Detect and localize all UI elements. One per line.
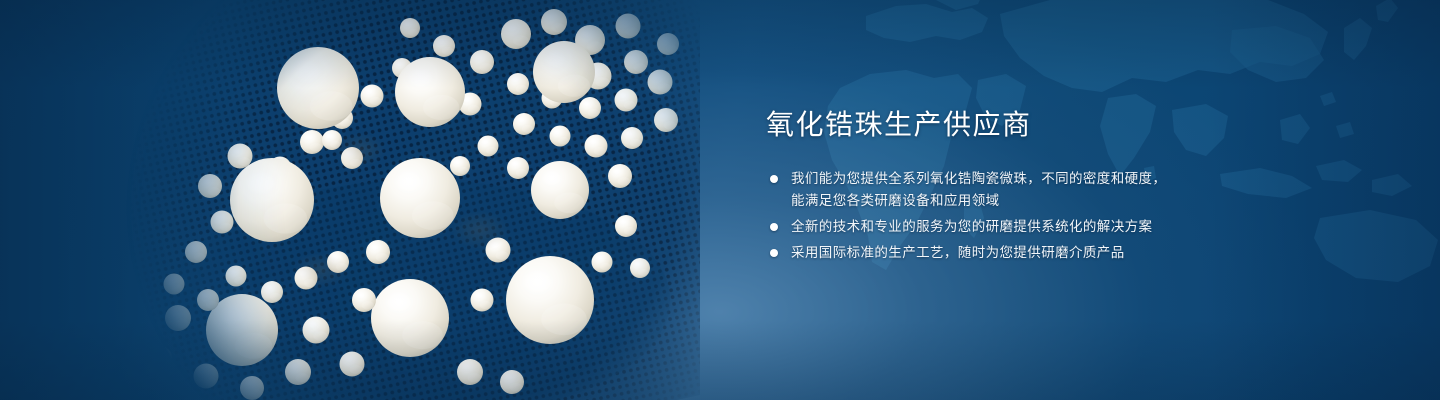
feature-list: 我们能为您提供全系列氧化锆陶瓷微珠，不同的密度和硬度， 能满足您各类研磨设备和应… [766,168,1366,264]
banner-copy: 氧化锆珠生产供应商 我们能为您提供全系列氧化锆陶瓷微珠，不同的密度和硬度， 能满… [766,108,1366,264]
beads-illustration [120,0,700,400]
bullet-dot-icon [770,175,778,183]
list-item-line-1: 我们能为您提供全系列氧化锆陶瓷微珠，不同的密度和硬度， [791,168,1366,190]
list-item-line-1: 采用国际标准的生产工艺，随时为您提供研磨介质产品 [791,242,1366,264]
list-item-line-1: 全新的技术和专业的服务为您的研磨提供系统化的解决方案 [791,216,1366,238]
bullet-dot-icon [770,223,778,231]
zirconia-beads-photo [120,0,700,400]
page-title: 氧化锆珠生产供应商 [766,108,1366,142]
bullet-dot-icon [770,249,778,257]
hero-banner: 氧化锆珠生产供应商 我们能为您提供全系列氧化锆陶瓷微珠，不同的密度和硬度， 能满… [0,0,1440,400]
list-item: 我们能为您提供全系列氧化锆陶瓷微珠，不同的密度和硬度， 能满足您各类研磨设备和应… [766,168,1366,212]
list-item: 采用国际标准的生产工艺，随时为您提供研磨介质产品 [766,242,1366,264]
list-item: 全新的技术和专业的服务为您的研磨提供系统化的解决方案 [766,216,1366,238]
list-item-line-2: 能满足您各类研磨设备和应用领域 [791,190,1366,212]
